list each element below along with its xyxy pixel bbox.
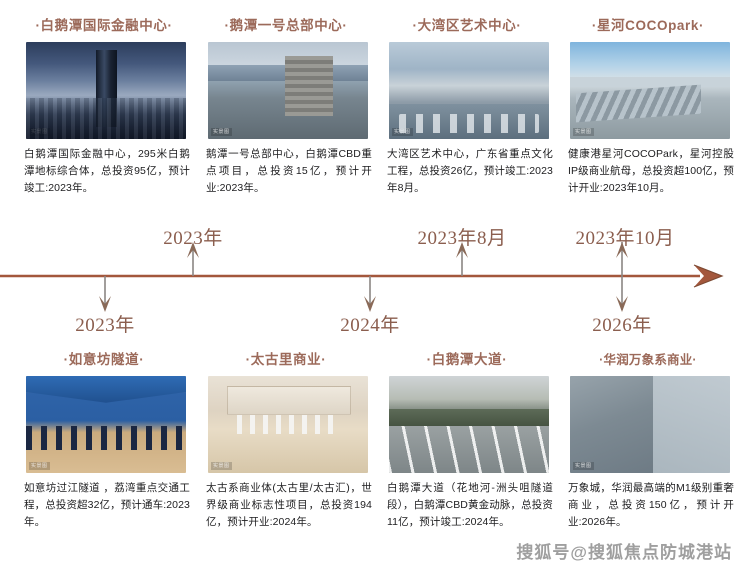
card-title: ·白鹅潭国际金融中心· xyxy=(12,18,196,34)
photo-ruyifang-tunnel: 实景图 xyxy=(26,376,186,473)
bottom-projects-row: ·如意坊隧道· 实景图 如意坊过江隧道 ，荔湾重点交通工程，总投资超32亿，预计… xyxy=(0,352,740,531)
card-title: ·华润万象系商业· xyxy=(556,352,740,368)
project-card-etan-no1-headquarters-center[interactable]: ·鹅潭一号总部中心· 实景图 鹅潭一号总部中心，白鹅潭CBD重点项目，总投资15… xyxy=(194,18,378,197)
card-title: ·星河COCOpark· xyxy=(556,18,740,34)
photo-watermark: 实景图 xyxy=(392,128,413,136)
top-projects-row: ·白鹅潭国际金融中心· 实景图 白鹅潭国际金融中心，295米白鹅潭地标综合体，总… xyxy=(0,18,740,197)
project-card-baietan-avenue[interactable]: ·白鹅潭大道· 实景图 白鹅潭大道（花地河-洲头咀隧道段），白鹅潭CBD黄金动脉… xyxy=(375,352,559,531)
card-title: ·鹅潭一号总部中心· xyxy=(194,18,378,34)
card-description: 大湾区艺术中心，广东省重点文化工程，总投资26亿，预计竣工:2023年8月。 xyxy=(387,146,553,197)
project-card-galaxy-cocopark[interactable]: ·星河COCOpark· 实景图 健康港星河COCOPark，星河控股IP级商业… xyxy=(556,18,740,197)
project-card-baietan-international-financial-center[interactable]: ·白鹅潭国际金融中心· 实景图 白鹅潭国际金融中心，295米白鹅潭地标综合体，总… xyxy=(12,18,196,197)
timeline-label-2023-08: 2023年8月 xyxy=(417,223,506,250)
card-title: ·白鹅潭大道· xyxy=(375,352,559,368)
photo-watermark: 实景图 xyxy=(573,128,594,136)
photo-baietan-international-financial-center: 实景图 xyxy=(26,42,186,139)
project-card-taikoo-li-commercial[interactable]: ·太古里商业· 实景图 太古系商业体(太古里/太古汇)，世界级商业标志性项目，总… xyxy=(194,352,378,531)
project-timeline: 2023年 2023年8月 2023年10月 2023年 2024年 2026年 xyxy=(0,210,740,350)
photo-watermark: 实景图 xyxy=(573,462,594,470)
card-description: 白鹅潭国际金融中心，295米白鹅潭地标综合体，总投资95亿，预计竣工:2023年… xyxy=(24,146,190,197)
photo-taikoo-li-commercial: 实景图 xyxy=(208,376,368,473)
card-description: 白鹅潭大道（花地河-洲头咀隧道段），白鹅潭CBD黄金动脉，总投资11亿，预计竣工… xyxy=(387,480,553,531)
photo-watermark: 实景图 xyxy=(211,128,232,136)
card-description: 鹅潭一号总部中心，白鹅潭CBD重点项目，总投资15亿，预计开业:2023年。 xyxy=(206,146,372,197)
card-description: 太古系商业体(太古里/太古汇)，世界级商业标志性项目，总投资194亿，预计开业:… xyxy=(206,480,372,531)
timeline-label-2024: 2024年 xyxy=(340,310,400,337)
card-title: ·大湾区艺术中心· xyxy=(375,18,559,34)
site-watermark: 搜狐号@搜狐焦点防城港站 xyxy=(516,538,732,563)
project-card-ruyifang-tunnel[interactable]: ·如意坊隧道· 实景图 如意坊过江隧道 ，荔湾重点交通工程，总投资超32亿，预计… xyxy=(12,352,196,531)
card-title: ·太古里商业· xyxy=(194,352,378,368)
card-description: 健康港星河COCOPark，星河控股IP级商业航母，总投资超100亿，预计开业:… xyxy=(568,146,734,197)
project-card-crland-mixc-commercial[interactable]: ·华润万象系商业· 实景图 万象城，华润最高端的M1级别重奢商业，总投资150亿… xyxy=(556,352,740,531)
infographic-canvas: ·白鹅潭国际金融中心· 实景图 白鹅潭国际金融中心，295米白鹅潭地标综合体，总… xyxy=(0,0,740,569)
photo-watermark: 实景图 xyxy=(392,462,413,470)
photo-greater-bay-area-art-center: 实景图 xyxy=(389,42,549,139)
photo-watermark: 实景图 xyxy=(29,128,50,136)
photo-crland-mixc-commercial: 实景图 xyxy=(570,376,730,473)
card-title: ·如意坊隧道· xyxy=(12,352,196,368)
timeline-label-2023-lower: 2023年 xyxy=(75,310,135,337)
photo-baietan-avenue: 实景图 xyxy=(389,376,549,473)
photo-watermark: 实景图 xyxy=(29,462,50,470)
timeline-label-2023-10: 2023年10月 xyxy=(575,223,674,250)
card-description: 如意坊过江隧道 ，荔湾重点交通工程，总投资超32亿，预计通车:2023年。 xyxy=(24,480,190,531)
photo-watermark: 实景图 xyxy=(211,462,232,470)
card-description: 万象城，华润最高端的M1级别重奢商业，总投资150亿，预计开业:2026年。 xyxy=(568,480,734,531)
photo-etan-no1-headquarters-center: 实景图 xyxy=(208,42,368,139)
timeline-label-2026: 2026年 xyxy=(592,310,652,337)
photo-galaxy-cocopark: 实景图 xyxy=(570,42,730,139)
project-card-greater-bay-area-art-center[interactable]: ·大湾区艺术中心· 实景图 大湾区艺术中心，广东省重点文化工程，总投资26亿，预… xyxy=(375,18,559,197)
timeline-label-2023: 2023年 xyxy=(163,223,223,250)
